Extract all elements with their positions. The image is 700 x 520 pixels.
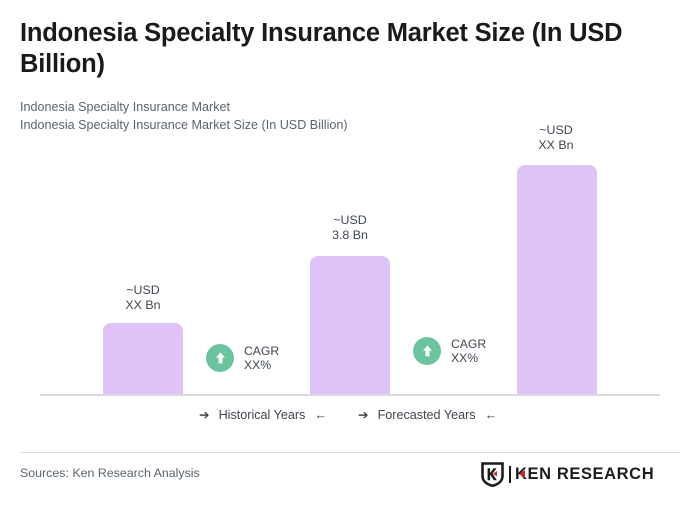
chart-plot-area: ~USD XX Bn ~USD 3.8 Bn ~USD XX Bn CAGR X… bbox=[0, 0, 700, 440]
bar-value-label-1-line-2: XX Bn bbox=[88, 298, 198, 313]
bar-value-label-3: ~USD XX Bn bbox=[501, 123, 611, 152]
cagr-badge-2-line-2: XX% bbox=[451, 351, 486, 365]
footer-divider bbox=[20, 452, 680, 453]
bar-historical[interactable] bbox=[103, 323, 183, 395]
cagr-badge-1-line-1: CAGR bbox=[244, 344, 279, 358]
brand-k-glyph: KEN RESEARCH bbox=[515, 466, 654, 483]
chart-baseline-axis bbox=[40, 394, 660, 396]
arrow-up-icon bbox=[206, 344, 234, 372]
bar-base[interactable] bbox=[310, 256, 390, 395]
cagr-badge-2: CAGR XX% bbox=[413, 337, 486, 365]
cagr-badge-1-line-2: XX% bbox=[244, 358, 279, 372]
cagr-badge-2-text: CAGR XX% bbox=[451, 337, 486, 365]
bar-value-label-1: ~USD XX Bn bbox=[88, 283, 198, 312]
bar-value-label-2: ~USD 3.8 Bn bbox=[295, 213, 405, 242]
brand-name-label: KEN RESEARCH bbox=[515, 465, 654, 483]
brand-logo: KEN RESEARCH bbox=[481, 462, 654, 486]
bar-value-label-3-line-2: XX Bn bbox=[501, 138, 611, 153]
brand-accent-triangle bbox=[519, 470, 525, 478]
period-label-row: ➔ Historical Years ← ➔ Forecasted Years … bbox=[0, 408, 700, 430]
period-label-historical: ➔ Historical Years ← bbox=[199, 408, 327, 422]
bar-value-label-2-line-2: 3.8 Bn bbox=[295, 228, 405, 243]
period-label-forecasted: ➔ Forecasted Years ← bbox=[358, 408, 497, 422]
arrow-left-icon: ← bbox=[485, 409, 498, 422]
bar-value-label-2-line-1: ~USD bbox=[295, 213, 405, 228]
ken-research-shield-icon bbox=[481, 462, 504, 487]
cagr-badge-1: CAGR XX% bbox=[206, 344, 279, 372]
arrow-right-icon: ➔ bbox=[199, 409, 210, 422]
brand-name-text: KEN RESEARCH bbox=[515, 466, 654, 483]
arrow-right-icon: ➔ bbox=[358, 409, 369, 422]
sources-text: Sources: Ken Research Analysis bbox=[20, 466, 200, 480]
arrow-up-icon bbox=[413, 337, 441, 365]
chart-page: Indonesia Specialty Insurance Market Siz… bbox=[0, 0, 700, 520]
period-label-historical-text: Historical Years bbox=[219, 408, 306, 422]
brand-separator bbox=[509, 466, 511, 483]
bar-value-label-3-line-1: ~USD bbox=[501, 123, 611, 138]
arrow-left-icon: ← bbox=[314, 409, 327, 422]
bar-value-label-1-line-1: ~USD bbox=[88, 283, 198, 298]
bar-forecast[interactable] bbox=[517, 165, 597, 395]
period-label-forecasted-text: Forecasted Years bbox=[378, 408, 476, 422]
cagr-badge-1-text: CAGR XX% bbox=[244, 344, 279, 372]
cagr-badge-2-line-1: CAGR bbox=[451, 337, 486, 351]
